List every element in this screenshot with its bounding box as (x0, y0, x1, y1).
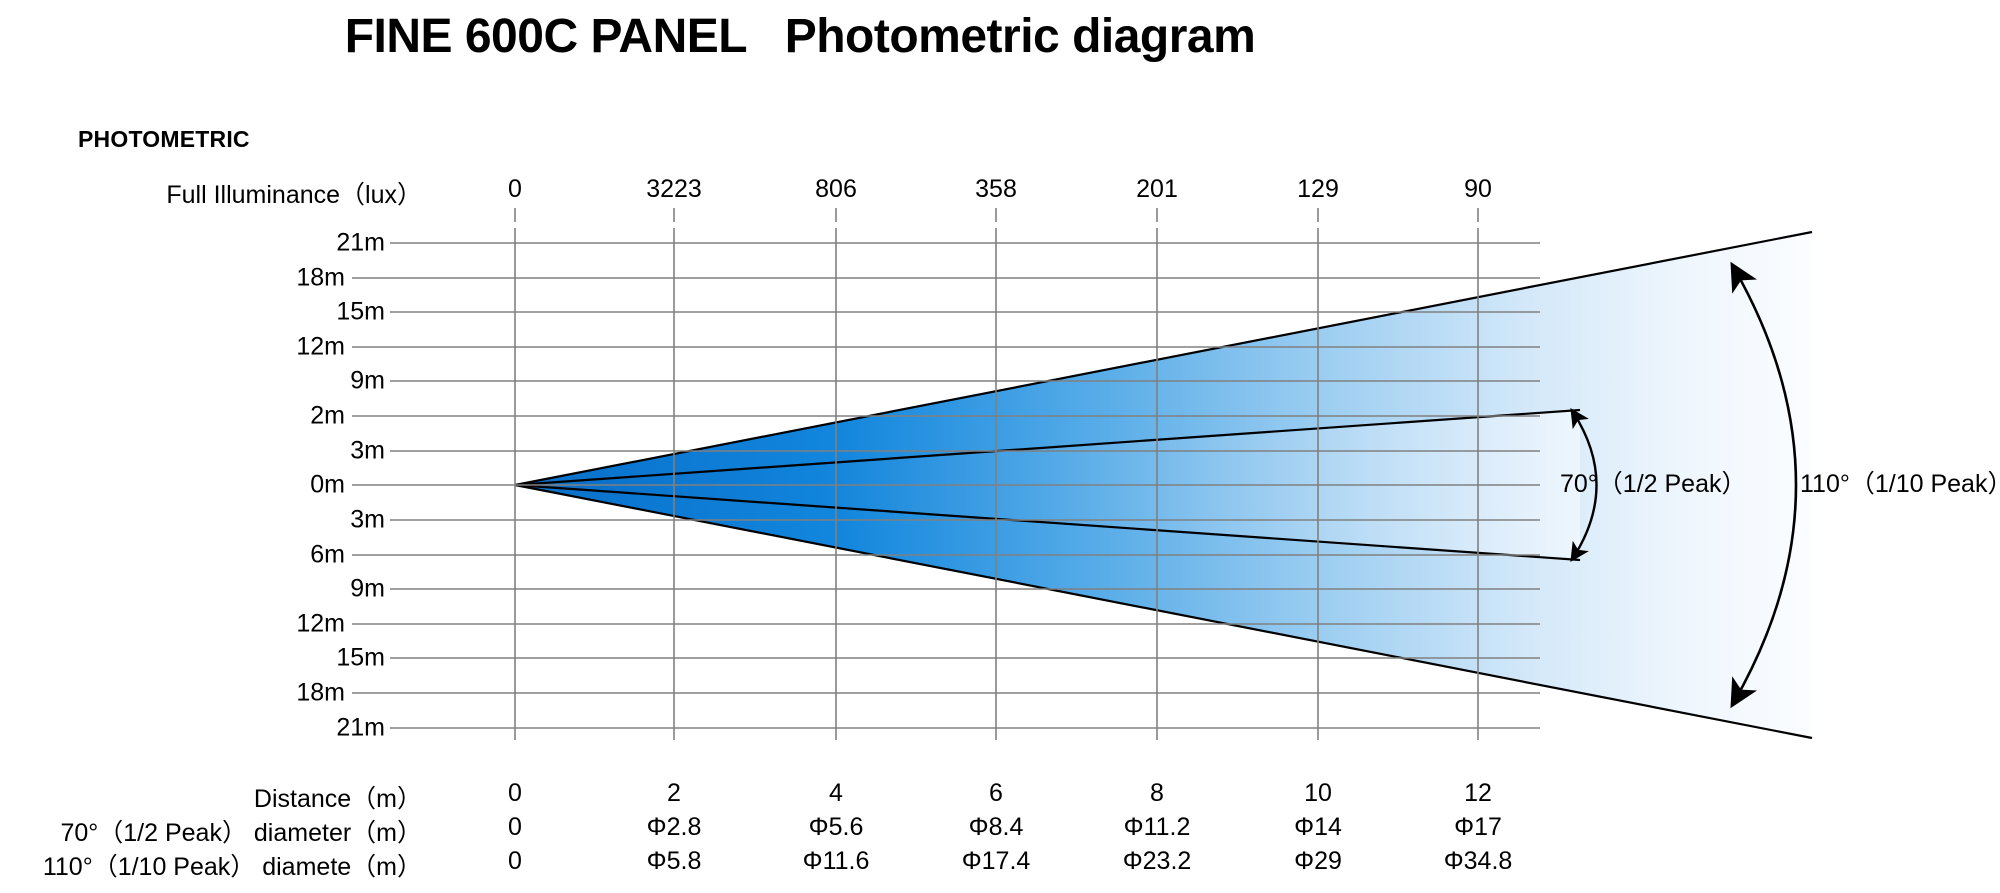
illuminance-value-6: 90 (1464, 175, 1492, 204)
section-label: PHOTOMETRIC (78, 126, 250, 153)
y-tick-up-3m: 3m (350, 437, 385, 466)
y-tick-dn-15m: 15m (336, 644, 385, 673)
y-tick-dn-3m: 3m (350, 506, 385, 535)
top-axis-ticks (515, 208, 1478, 222)
y-tick-dn-6m: 6m (310, 541, 345, 570)
page-title: FINE 600C PANEL Photometric diagram (0, 8, 1600, 66)
illuminance-value-5: 129 (1297, 175, 1339, 204)
grid-vertical (515, 228, 1478, 740)
distance-value-4: 8 (1150, 779, 1164, 808)
illuminance-value-3: 358 (975, 175, 1017, 204)
y-tick-up-12m: 12m (296, 333, 345, 362)
y-tick-0m: 0m (310, 471, 345, 500)
diameter70-value-1: Φ2.8 (647, 813, 702, 842)
illuminance-value-2: 806 (815, 175, 857, 204)
illuminance-value-1: 3223 (646, 175, 702, 204)
table-row-header-70-diameter: 70°（1/2 Peak） diameter（m） (60, 813, 422, 849)
photometric-plot (0, 0, 2000, 893)
table-row-header-110-diameter: 110°（1/10 Peak） diamete（m） (43, 847, 422, 883)
distance-value-5: 10 (1304, 779, 1332, 808)
y-tick-up-15m: 15m (336, 298, 385, 327)
diameter110-value-5: Φ29 (1294, 847, 1342, 876)
diameter110-value-4: Φ23.2 (1123, 847, 1192, 876)
distance-value-1: 2 (667, 779, 681, 808)
diameter70-value-6: Φ17 (1454, 813, 1502, 842)
photometric-diagram-page: FINE 600C PANEL Photometric diagram PHOT… (0, 0, 2000, 893)
full-illuminance-label: Full Illuminance（lux） (166, 175, 422, 211)
beam-cone-70 (515, 410, 1580, 560)
diameter110-value-3: Φ17.4 (962, 847, 1031, 876)
distance-value-6: 12 (1464, 779, 1492, 808)
angle-label-70: 70°（1/2 Peak） (1560, 472, 1747, 497)
y-tick-dn-21m: 21m (336, 714, 385, 743)
y-tick-dn-9m: 9m (350, 575, 385, 604)
angle-label-110: 110°（1/10 Peak） (1800, 472, 2000, 497)
y-tick-up-6m: 2m (310, 402, 345, 431)
illuminance-value-4: 201 (1136, 175, 1178, 204)
y-tick-dn-12m: 12m (296, 610, 345, 639)
distance-value-0: 0 (508, 779, 522, 808)
grid-horizontal (352, 243, 1540, 728)
table-row-header-distance: Distance（m） (254, 779, 422, 815)
y-tick-up-9m: 9m (350, 367, 385, 396)
distance-value-2: 4 (829, 779, 843, 808)
diameter110-value-2: Φ11.6 (803, 847, 870, 876)
diameter70-value-5: Φ14 (1294, 813, 1342, 842)
diameter110-value-6: Φ34.8 (1444, 847, 1513, 876)
diameter70-value-4: Φ11.2 (1124, 813, 1191, 842)
diameter70-value-3: Φ8.4 (969, 813, 1024, 842)
diameter70-value-2: Φ5.6 (809, 813, 864, 842)
distance-value-3: 6 (989, 779, 1003, 808)
y-tick-dn-18m: 18m (296, 679, 345, 708)
diameter70-value-0: 0 (508, 813, 522, 842)
diameter110-value-1: Φ5.8 (647, 847, 702, 876)
illuminance-value-0: 0 (508, 175, 522, 204)
diameter110-value-0: 0 (508, 847, 522, 876)
y-tick-up-21m: 21m (336, 229, 385, 258)
y-tick-up-18m: 18m (296, 264, 345, 293)
